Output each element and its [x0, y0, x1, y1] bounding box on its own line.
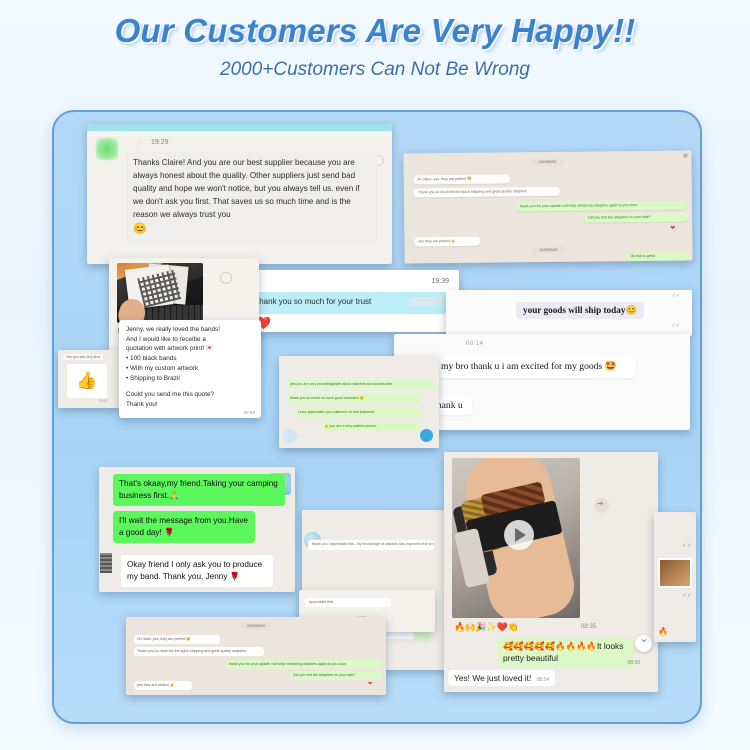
trust-message-text: thank you so much for your trust	[257, 297, 371, 306]
outgoing-bubble-1: thank you for your update i will ship re…	[516, 201, 688, 212]
thumbs-up-icon: 👍	[67, 364, 107, 398]
incoming-bubble-2: Thank you so much for the quick shipping…	[134, 647, 264, 656]
redacted-block	[409, 297, 443, 306]
testimonial-card-ship-today[interactable]: ✓✓ your goods will ship today😊 ✓✓	[446, 290, 692, 336]
quote-line-7: Could you send me this quote?	[126, 390, 254, 400]
mid1-line-0: yes you are very knowledgeable about wat…	[287, 380, 435, 389]
testimonial-card-quotation[interactable]: Jenny, we really loved the bands! And I …	[119, 320, 261, 418]
testimonial-card-whatsapp-top[interactable]: 2024/06/02 Hi Claire, yes, they are perf…	[403, 150, 692, 263]
page-header: Our Customers Are Very Happy!! 2000+Cust…	[0, 0, 750, 81]
play-button-icon[interactable]	[504, 520, 534, 550]
incoming-bubble-2: Thank you so much for the quick shipping…	[414, 187, 560, 198]
heart-reaction-icon: ❤	[368, 681, 372, 687]
testimonial-card-edge-sliver[interactable]: ✓✓ ✓✓ 🔥	[654, 512, 696, 642]
smiley-emoji: 😊	[133, 224, 371, 235]
date-pill-top: 2024/06/02	[530, 159, 564, 167]
main-message-bubble: Thanks Claire! And you are our best supp…	[127, 152, 377, 243]
quote-line-0: Jenny, we really loved the bands!	[126, 325, 254, 335]
watch-final-message: Yes! We just loved it!	[454, 673, 531, 683]
heart-reaction-icon: ❤	[670, 225, 675, 232]
outgoing-bubble-3: Ok that is great	[626, 252, 688, 262]
incoming-bubble-1: Hi Claire, yes, they are perfect 😊	[414, 174, 510, 184]
emoji-reaction-icon: 🔥	[658, 627, 668, 636]
quote-line-6	[126, 383, 254, 390]
outgoing-bubble-1: thank you for your update i will ship re…	[226, 660, 382, 669]
testimonial-card-camping[interactable]: That's okaay,my friend.Taking your campi…	[99, 467, 295, 592]
quote-line-5: • Shipping to Brazil	[126, 374, 254, 384]
conversation-date: 00:14	[466, 341, 484, 347]
read-receipt-icon-2: ✓✓	[682, 592, 692, 599]
watch-reply-message: 🥰🥰🥰🥰🥰🔥🔥🔥🔥It looks pretty beautiful	[498, 638, 634, 668]
outgoing-bubble-2: Did you test the adapters on your side?	[290, 671, 382, 680]
bro-message-1: Hi my bro thank u i am excited for my go…	[422, 356, 636, 378]
date-pill-top: 2024/06/02	[240, 623, 272, 630]
quote-line-8: Thank you!	[126, 400, 254, 410]
watch-timestamp-1: 08:35	[581, 624, 596, 630]
watch-final-message-wrap: Yes! We just loved it! 08:54	[448, 670, 555, 686]
emoji-reactions: 🔥🙌🎉✨❤️👏	[454, 622, 518, 633]
mid1-line-3: 👍 you are a very patient person.	[321, 422, 421, 431]
testimonial-collage-panel: ⋰ 19:29 Thanks Claire! And you are our b…	[52, 110, 702, 724]
outgoing-bubble-2: Did you test the adapters on your side?	[584, 213, 688, 223]
read-receipt-icon-1: ✓✓	[672, 293, 680, 299]
forward-icon[interactable]	[594, 498, 609, 513]
testimonial-card-main-chat[interactable]: ⋰ 19:29 Thanks Claire! And you are our b…	[87, 124, 392, 264]
read-receipt-icon-2: ✓✓	[672, 323, 680, 329]
incoming-bubble-3: yes they are perfect 👍	[134, 681, 192, 690]
page-subtitle: 2000+Customers Can Not Be Wrong	[0, 50, 750, 81]
testimonial-card-thumbs-up[interactable]: Yes you are very kind 👍 20:07	[58, 350, 120, 408]
scroll-down-button[interactable]	[635, 635, 652, 652]
watch-timestamp-3: 08:54	[537, 677, 550, 683]
main-message-text: Thanks Claire! And you are our best supp…	[133, 158, 360, 219]
thumb-timestamp: 20:07	[99, 399, 108, 403]
reply-circle-icon[interactable]	[220, 272, 232, 284]
incoming-bubble-1: Hi Claire, yes, they are perfect 😊	[134, 635, 220, 644]
appr-line-text: Appreciate that	[305, 598, 391, 607]
incoming-bubble-3: yes they are perfect 👍	[414, 237, 480, 247]
watch-timestamp-2: 08:39	[627, 660, 640, 666]
mid1-line-1: thank you so much on such good comment 😊	[287, 394, 421, 403]
trust-timestamp: 19:39	[431, 278, 449, 285]
thumbnail-image	[658, 558, 692, 588]
contact-avatar	[283, 429, 297, 443]
ship-message-text: your goods will ship today😊	[516, 302, 644, 319]
scroll-down-button[interactable]	[420, 429, 433, 442]
received-product-image[interactable]	[117, 263, 203, 323]
testimonial-card-whatsapp-bottom[interactable]: 2024/06/02 Hi Claire, yes, they are perf…	[126, 617, 386, 695]
watch-video-thumbnail[interactable]	[452, 458, 580, 618]
testimonial-card-watch-video[interactable]: 🔥🙌🎉✨❤️👏 08:35 🥰🥰🥰🥰🥰🔥🔥🔥🔥It looks pretty b…	[444, 452, 658, 692]
testimonial-card-watch-knowledge[interactable]: yes you are very knowledgeable about wat…	[279, 356, 439, 448]
status-dots-icon: ⋰	[135, 140, 142, 148]
camping-green-message-1: That's okaay,my friend.Taking your campi…	[113, 474, 285, 506]
mid2-line-0: thank you i appreciate this - my knowled…	[308, 540, 434, 550]
testimonial-card-trust[interactable]: 19:39 thank you so much for your trust ❤…	[239, 270, 459, 332]
mid1-line-2: i very appreciate your patience on this …	[295, 408, 421, 417]
read-receipt-icon: ✓✓	[682, 542, 692, 549]
message-timestamp: 19:29	[151, 139, 169, 146]
contact-avatar	[100, 553, 112, 573]
chat-header-bar	[87, 124, 392, 131]
date-pill-bottom: 2024/06/03	[531, 247, 565, 255]
camping-green-message-2: I'll wait the message from you.Have a go…	[113, 511, 255, 543]
card-corner-marker	[683, 154, 687, 158]
page-title: Our Customers Are Very Happy!!	[0, 0, 750, 50]
quote-line-2: quotation with artwork print! 💌	[126, 344, 254, 354]
camping-white-message: Okay friend I only ask you to produce my…	[121, 555, 273, 587]
thumb-header-text: Yes you are very kind	[63, 354, 103, 360]
quote-line-1: And I would like to receibe a	[126, 335, 254, 345]
contact-avatar	[96, 138, 118, 160]
quote-line-3: • 100 black bands	[126, 354, 254, 364]
quote-timestamp: 20:58	[244, 410, 256, 415]
quote-line-4: • With my custom artwork	[126, 364, 254, 374]
